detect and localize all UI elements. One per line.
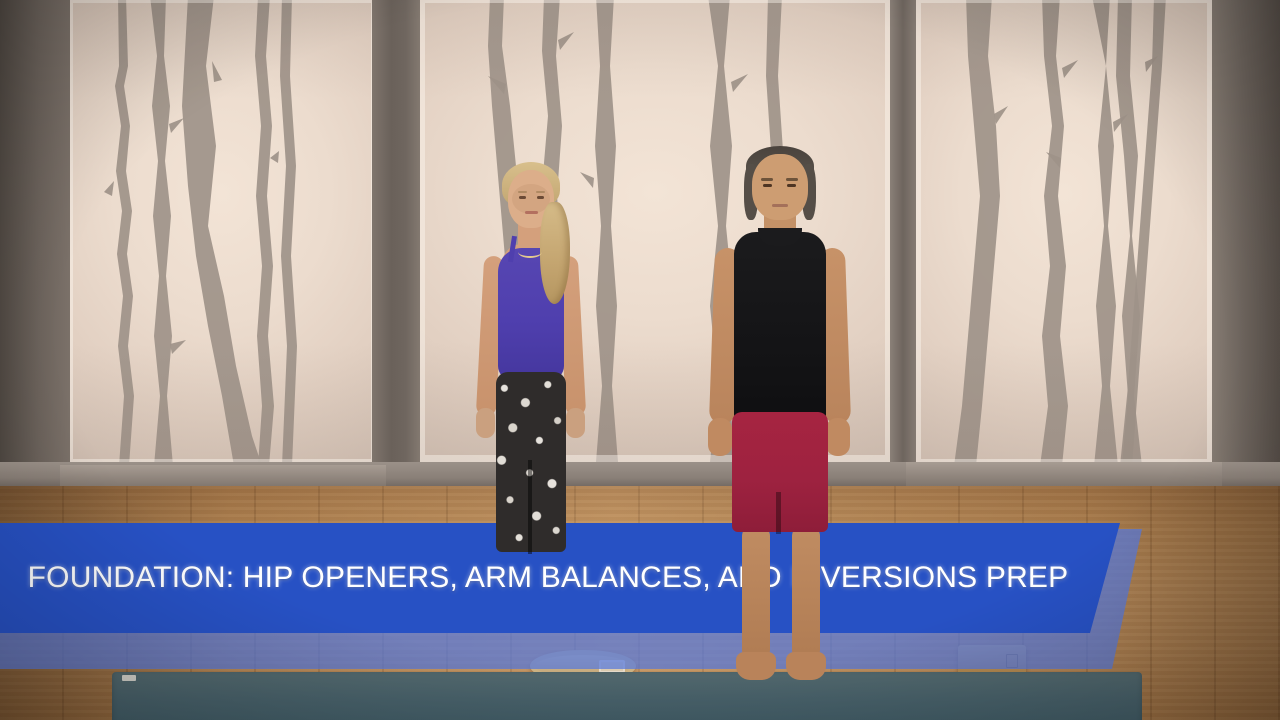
mouth bbox=[772, 204, 788, 207]
yoga-mat bbox=[112, 672, 1142, 720]
left-backlit-tree-panel bbox=[66, 0, 378, 466]
hand-right bbox=[826, 418, 850, 456]
wall-pilaster-mid-right bbox=[890, 0, 916, 500]
wall-pilaster-right bbox=[1212, 0, 1280, 500]
mat-label-tag bbox=[122, 675, 136, 681]
panel-shade bbox=[66, 0, 378, 466]
eyebrow-right bbox=[786, 178, 798, 181]
right-backlit-tree-panel bbox=[914, 0, 1214, 466]
eyebrow-right bbox=[536, 191, 545, 193]
wall-pilaster-left bbox=[0, 0, 70, 500]
leg-right bbox=[792, 526, 820, 660]
leggings-inseam bbox=[528, 460, 532, 554]
head bbox=[752, 154, 808, 220]
panel-baseboard-right bbox=[906, 462, 1222, 486]
video-title-text: FOUNDATION: HIP OPENERS, ARM BALANCES, A… bbox=[28, 561, 1069, 595]
hand-left bbox=[476, 408, 495, 438]
leg-left bbox=[742, 526, 770, 660]
hand-left bbox=[708, 418, 732, 456]
hand-right bbox=[566, 408, 585, 438]
necklace bbox=[518, 246, 542, 258]
video-frame: FOUNDATION: HIP OPENERS, ARM BALANCES, A… bbox=[0, 0, 1280, 720]
wall-pilaster-mid-left bbox=[372, 0, 420, 500]
black-sleeveless-top bbox=[734, 232, 826, 422]
eyebrow-left bbox=[518, 191, 527, 193]
panel-shade bbox=[914, 0, 1214, 466]
lower-third-title-banner: FOUNDATION: HIP OPENERS, ARM BALANCES, A… bbox=[0, 505, 1280, 665]
eye-left bbox=[519, 196, 526, 199]
shorts-inseam bbox=[776, 492, 781, 534]
mouth bbox=[525, 211, 538, 214]
eyebrow-left bbox=[761, 178, 773, 181]
panel-baseboard-left bbox=[60, 465, 386, 487]
eye-left bbox=[763, 184, 772, 187]
foot-right bbox=[786, 652, 826, 680]
eye-right bbox=[537, 196, 544, 199]
eye-right bbox=[787, 184, 796, 187]
foot-left bbox=[736, 652, 776, 680]
